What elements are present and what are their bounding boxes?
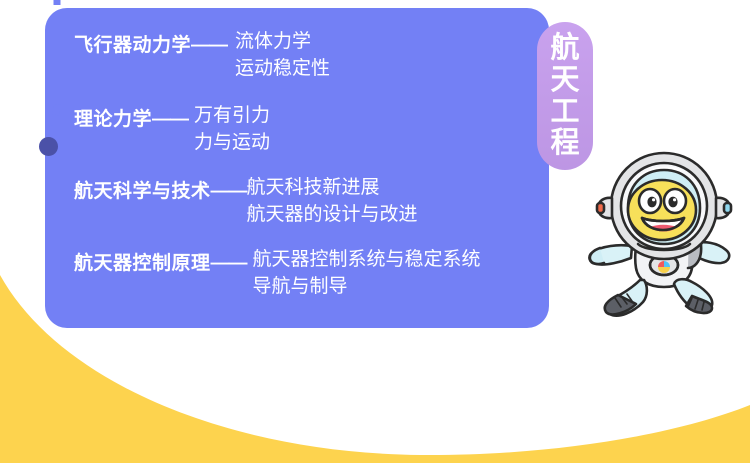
topic-item: 导航与制导 [253,273,481,300]
subject-row: 飞行器动力学 —— 流体力学 运动稳定性 [74,28,544,82]
subject-title: 飞行器动力学 [74,28,191,58]
badge-char-2: 天 [550,65,579,96]
subject-dash: —— [152,102,188,132]
subject-row: 航天科学与技术 —— 航天科技新进展 航天器的设计与改进 [74,174,544,228]
topic-item: 航天器控制系统与稳定系统 [253,246,481,273]
badge-char-3: 工 [550,97,579,128]
subject-dash: —— [211,174,247,204]
topic-item: 万有引力 [194,102,270,129]
topic-item: 航天科技新进展 [247,174,418,201]
subject-row: 航天器控制原理 —— 航天器控制系统与稳定系统 导航与制导 [74,246,544,300]
vertical-title-badge: 航 天 工 程 [537,22,593,170]
topic-item: 航天器的设计与改进 [247,201,418,228]
topic-group: 万有引力 力与运动 [194,102,270,156]
subject-title: 理论力学 [74,102,152,132]
infographic-canvas: 航 天 工 程 飞行器动力学 —— 流体力学 运动稳定性 理论力学 —— 万有引… [0,0,750,463]
topic-group: 航天科技新进展 航天器的设计与改进 [247,174,418,228]
badge-char-4: 程 [550,128,579,159]
topic-group: 流体力学 运动稳定性 [235,28,330,82]
badge-char-1: 航 [550,33,579,64]
connector-dot-icon [39,137,58,156]
subject-dash: —— [211,246,247,276]
topic-item: 运动稳定性 [235,55,330,82]
subject-list: 飞行器动力学 —— 流体力学 运动稳定性 理论力学 —— 万有引力 力与运动 航… [74,28,544,300]
subject-title: 航天器控制原理 [74,246,211,276]
subject-title: 航天科学与技术 [74,174,211,204]
topic-item: 流体力学 [235,28,330,55]
subject-dash: —— [191,28,227,58]
topic-item: 力与运动 [194,129,270,156]
astronaut-mascot-icon [588,148,750,320]
subject-row: 理论力学 —— 万有引力 力与运动 [74,102,544,156]
topic-group: 航天器控制系统与稳定系统 导航与制导 [253,246,481,300]
